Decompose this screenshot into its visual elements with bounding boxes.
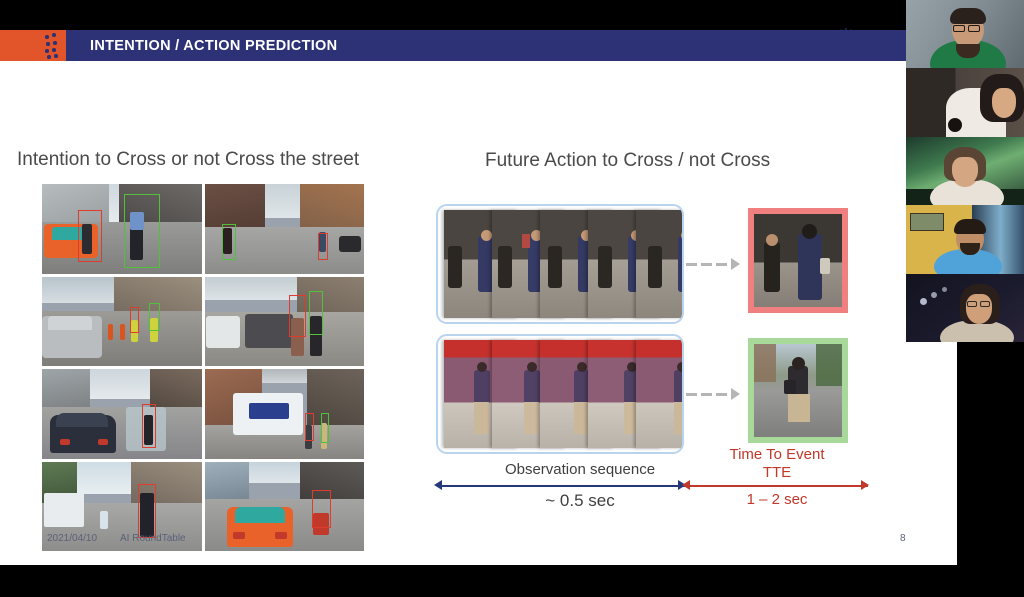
timeline: Observation sequence ~ 0.5 sec Time To E… xyxy=(430,446,890,516)
glasses-icon xyxy=(980,301,990,307)
bbox-cross xyxy=(149,303,160,331)
header-title-bar: INTENTION / ACTION PREDICTION xyxy=(66,30,957,61)
observation-sequence-bottom xyxy=(436,334,684,454)
video-tile-3[interactable] xyxy=(906,137,1024,205)
header-accent-block xyxy=(0,30,42,61)
video-tile-4[interactable] xyxy=(906,205,1024,273)
observation-axis xyxy=(440,485,685,487)
observation-sequence-top xyxy=(436,204,684,324)
bbox-cross xyxy=(124,194,160,268)
grid-cell-4 xyxy=(205,277,365,367)
bbox-not-cross xyxy=(318,233,328,260)
observation-sequence-label: Observation sequence xyxy=(470,461,690,478)
page-title-left: Intention to Cross or not Cross the stre… xyxy=(17,149,359,171)
intention-image-grid xyxy=(42,184,364,551)
video-conference-panel[interactable] xyxy=(906,0,1024,342)
tte-axis-arrow-right xyxy=(861,480,869,490)
grid-cell-6 xyxy=(205,369,365,459)
prediction-arrow-bottom xyxy=(686,388,742,400)
bbox-cross xyxy=(321,413,329,443)
glasses-icon xyxy=(968,25,980,32)
grid-cell-5 xyxy=(42,369,202,459)
video-tile-1[interactable] xyxy=(906,0,1024,68)
outcome-cross xyxy=(748,338,848,443)
bbox-not-cross xyxy=(130,307,139,333)
bbox-not-cross xyxy=(305,413,314,441)
video-tile-5[interactable] xyxy=(906,274,1024,342)
bbox-not-cross xyxy=(312,490,331,528)
footer-page-number: 8 xyxy=(900,533,906,544)
tte-label-line1: Time To Event xyxy=(692,446,862,463)
slide-section-title: INTENTION / ACTION PREDICTION xyxy=(66,38,337,54)
tte-axis-arrow-left xyxy=(682,480,690,490)
tte-duration: 1 – 2 sec xyxy=(692,491,862,508)
glasses-icon xyxy=(967,301,977,307)
grid-cell-2 xyxy=(205,184,365,274)
slide-footer: 2021/04/10 AI RoundTable 8 xyxy=(0,533,957,553)
grid-cell-1 xyxy=(42,184,202,274)
page-title-right: Future Action to Cross / not Cross xyxy=(485,150,770,172)
slide-header-band: INTENTION / ACTION PREDICTION xyxy=(0,30,957,61)
bbox-not-cross xyxy=(138,484,156,538)
grid-cell-3 xyxy=(42,277,202,367)
header-dot-pattern xyxy=(42,30,66,61)
footer-date: 2021/04/10 xyxy=(47,533,97,544)
bbox-cross xyxy=(309,291,323,335)
presentation-slide: Intention to Cross or not Cross the stre… xyxy=(0,31,957,565)
bbox-cross xyxy=(222,224,236,260)
tte-label-line2: TTE xyxy=(692,464,862,481)
tte-axis xyxy=(688,485,868,487)
glasses-icon xyxy=(953,25,965,32)
video-tile-2[interactable] xyxy=(906,68,1024,136)
outcome-not-cross xyxy=(748,208,848,313)
prediction-arrow-top xyxy=(686,258,742,270)
bbox-not-cross xyxy=(142,404,156,448)
footer-event-name: AI RoundTable xyxy=(120,533,186,544)
bbox-not-cross xyxy=(78,210,102,262)
observation-axis-arrow-left xyxy=(434,480,442,490)
observation-sequence-duration: ~ 0.5 sec xyxy=(470,491,690,511)
bbox-not-cross xyxy=(289,295,306,337)
